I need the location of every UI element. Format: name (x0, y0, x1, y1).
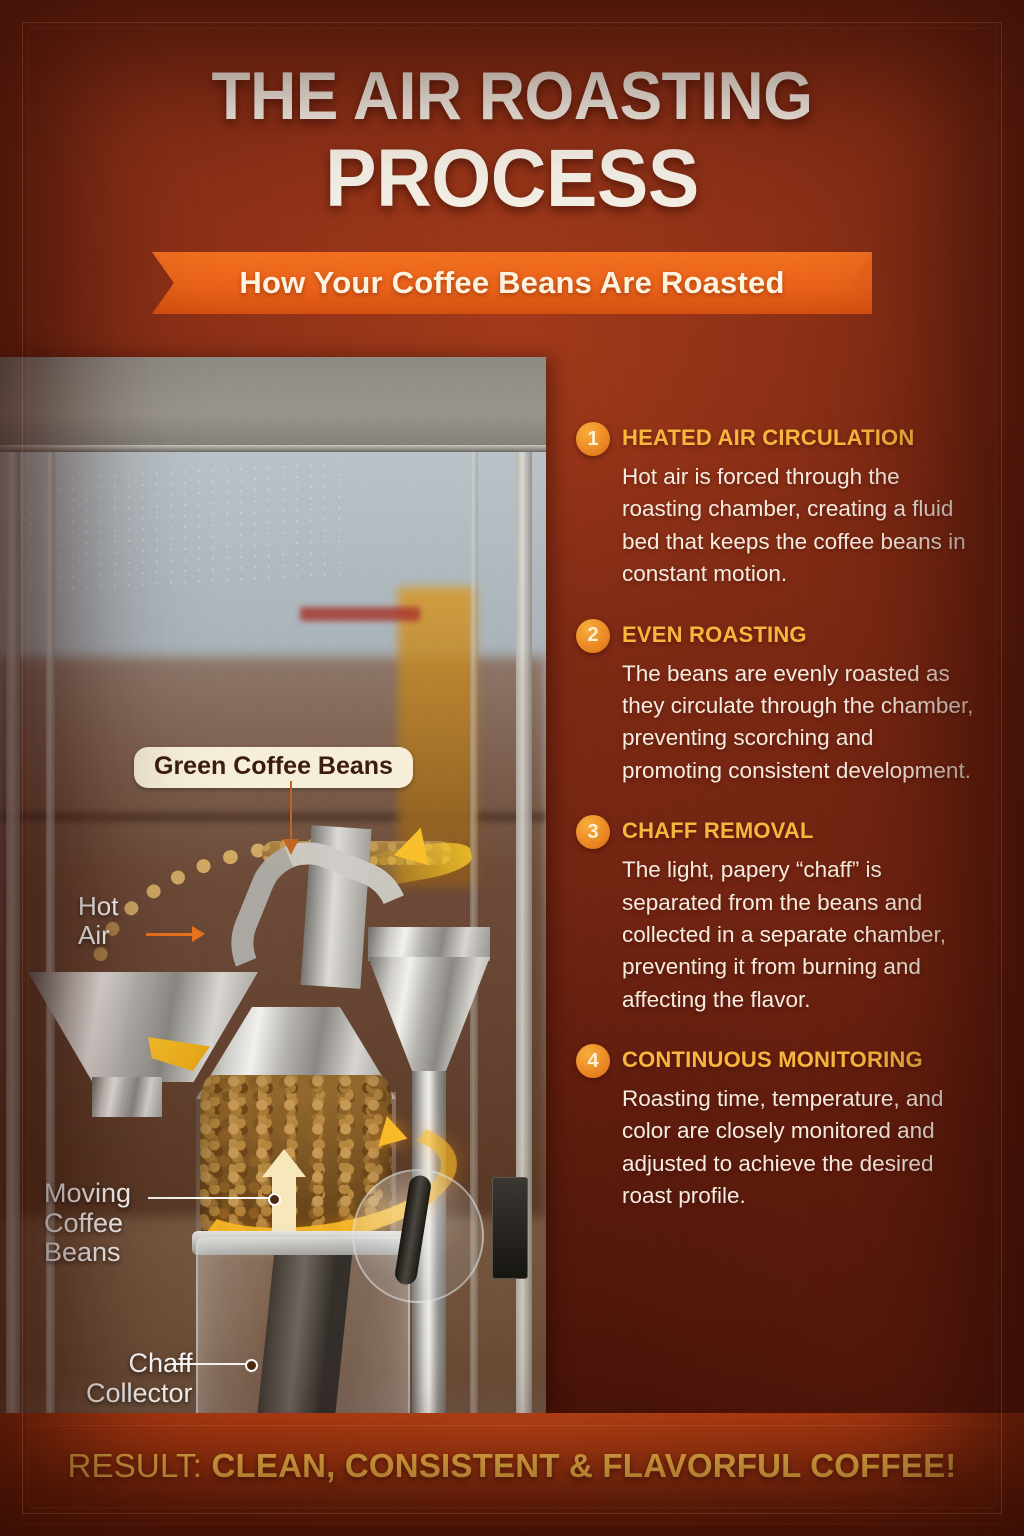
left-hopper-stem (92, 1077, 162, 1117)
step-title: CONTINUOUS MONITORING (622, 1042, 976, 1073)
step-number-badge: 4 (576, 1044, 610, 1078)
footer-result-text: RESULT: CLEAN, CONSISTENT & FLAVORFUL CO… (0, 1447, 1024, 1485)
process-step: 4 CONTINUOUS MONITORING Roasting time, t… (576, 1042, 976, 1213)
callout-chaff-leader (172, 1363, 248, 1365)
page-title-line1: THE AIR ROASTING (31, 62, 994, 130)
callout-chaff-dot (245, 1359, 258, 1372)
callout-hot-air-leader (146, 933, 194, 936)
process-steps-list: 1 HEATED AIR CIRCULATION Hot air is forc… (576, 420, 976, 1239)
subtitle-text: How Your Coffee Beans Are Roasted (239, 265, 784, 301)
step-title: CHAFF REMOVAL (622, 813, 976, 844)
cabinet-post-left (6, 452, 20, 1413)
subtitle-ribbon: How Your Coffee Beans Are Roasted (152, 252, 872, 314)
infographic-poster: THE AIR ROASTING PROCESS How Your Coffee… (0, 0, 1024, 1536)
cabinet-top-band (0, 357, 546, 449)
side-control-box (492, 1177, 528, 1279)
callout-green-coffee-beans: Green Coffee Beans (134, 747, 413, 788)
down-arrow-icon (283, 839, 299, 855)
cyclone-top (368, 927, 490, 961)
cabinet-top-lip (0, 445, 546, 452)
right-arrow-icon (192, 926, 205, 942)
footer-banner: RESULT: CLEAN, CONSISTENT & FLAVORFUL CO… (0, 1413, 1024, 1536)
callout-chaff-collector: ChaffCollector (86, 1349, 193, 1408)
step-title: EVEN ROASTING (622, 617, 976, 648)
process-step: 1 HEATED AIR CIRCULATION Hot air is forc… (576, 420, 976, 591)
step-body: The light, papery “chaff” is separated f… (622, 854, 976, 1016)
callout-moving-beans-leader (148, 1197, 272, 1199)
callout-hot-air: HotAir (78, 892, 118, 949)
process-step: 2 EVEN ROASTING The beans are evenly roa… (576, 617, 976, 788)
footer-lead-word: RESULT: (67, 1447, 211, 1484)
footer-emphasis: CLEAN, CONSISTENT & FLAVORFUL COFFEE! (212, 1447, 957, 1484)
roaster-photo: Green Coffee Beans HotAir MovingCoffeeBe… (0, 357, 546, 1413)
step-body: Roasting time, temperature, and color ar… (622, 1083, 976, 1213)
step-number-badge: 2 (576, 619, 610, 653)
callout-green-beans-leader (290, 781, 292, 847)
upward-airflow-arrow-icon (262, 1149, 306, 1177)
step-body: Hot air is forced through the roasting c… (622, 461, 976, 591)
background-red-pipe (300, 607, 420, 621)
step-body: The beans are evenly roasted as they cir… (622, 658, 976, 788)
callout-moving-coffee-beans: MovingCoffeeBeans (44, 1179, 131, 1268)
process-step: 3 CHAFF REMOVAL The light, papery “chaff… (576, 813, 976, 1016)
step-number-badge: 3 (576, 815, 610, 849)
cabinet-post-left-inner (46, 452, 55, 1413)
header: THE AIR ROASTING PROCESS (0, 0, 1024, 220)
page-title-line2: PROCESS (31, 138, 994, 220)
perforated-panel (10, 458, 340, 595)
step-title: HEATED AIR CIRCULATION (622, 420, 976, 451)
callout-moving-beans-dot (268, 1193, 281, 1206)
step-number-badge: 1 (576, 422, 610, 456)
